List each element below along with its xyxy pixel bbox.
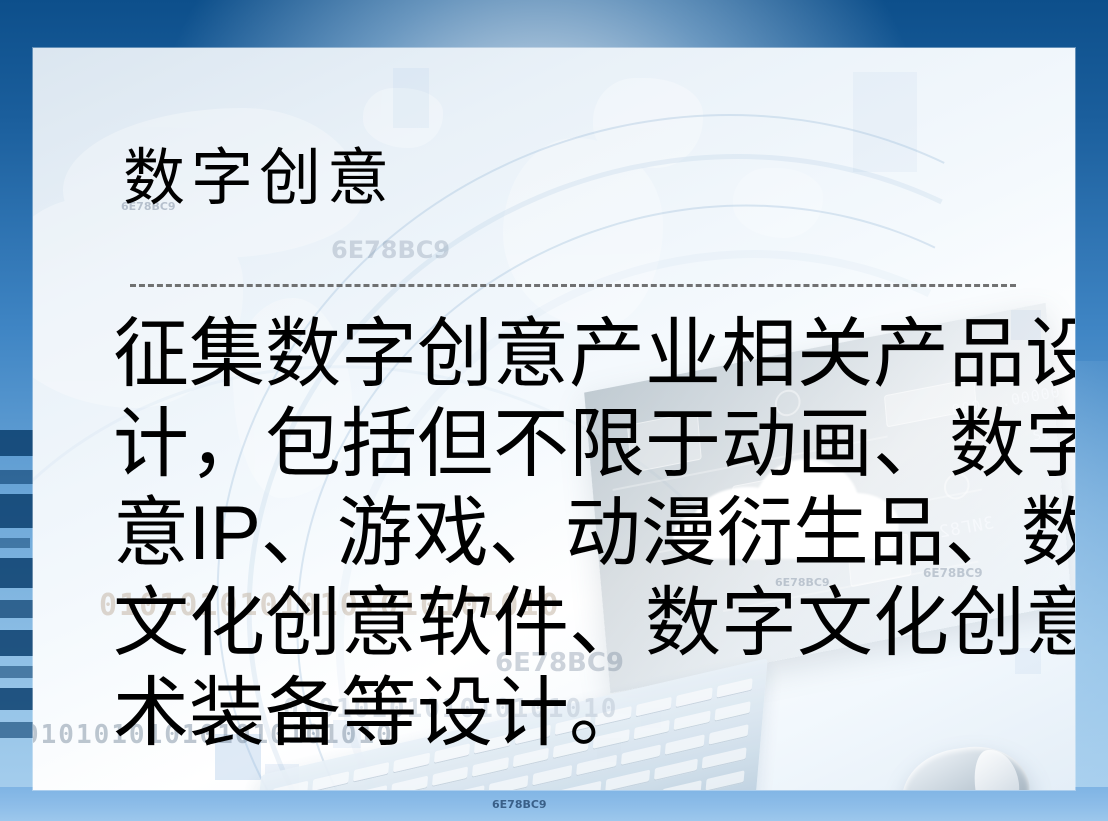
content-panel: 000...00000 S. ЗИГ82 bbox=[33, 48, 1075, 790]
body-line: 意IP、游戏、动漫衍生品、数字 bbox=[113, 489, 1073, 579]
body-line: 术装备等设计。 bbox=[113, 669, 1073, 759]
body-text: 征集数字创意产业相关产品设 计，包括但不限于动画、数字创 意IP、游戏、动漫衍生… bbox=[113, 310, 1073, 758]
body-line: 计，包括但不限于动画、数字创 bbox=[113, 400, 1073, 490]
title-divider bbox=[130, 284, 1016, 287]
page-title: 数字创意 bbox=[123, 148, 395, 210]
slide-canvas: 000...00000 S. ЗИГ82 bbox=[0, 0, 1108, 821]
body-line: 文化创意软件、数字文化创意技 bbox=[113, 579, 1073, 669]
hex-watermark-bottom: 6E78BC9 bbox=[492, 798, 547, 811]
bottom-color-band bbox=[0, 787, 1108, 821]
body-line: 征集数字创意产业相关产品设 bbox=[113, 310, 1073, 400]
